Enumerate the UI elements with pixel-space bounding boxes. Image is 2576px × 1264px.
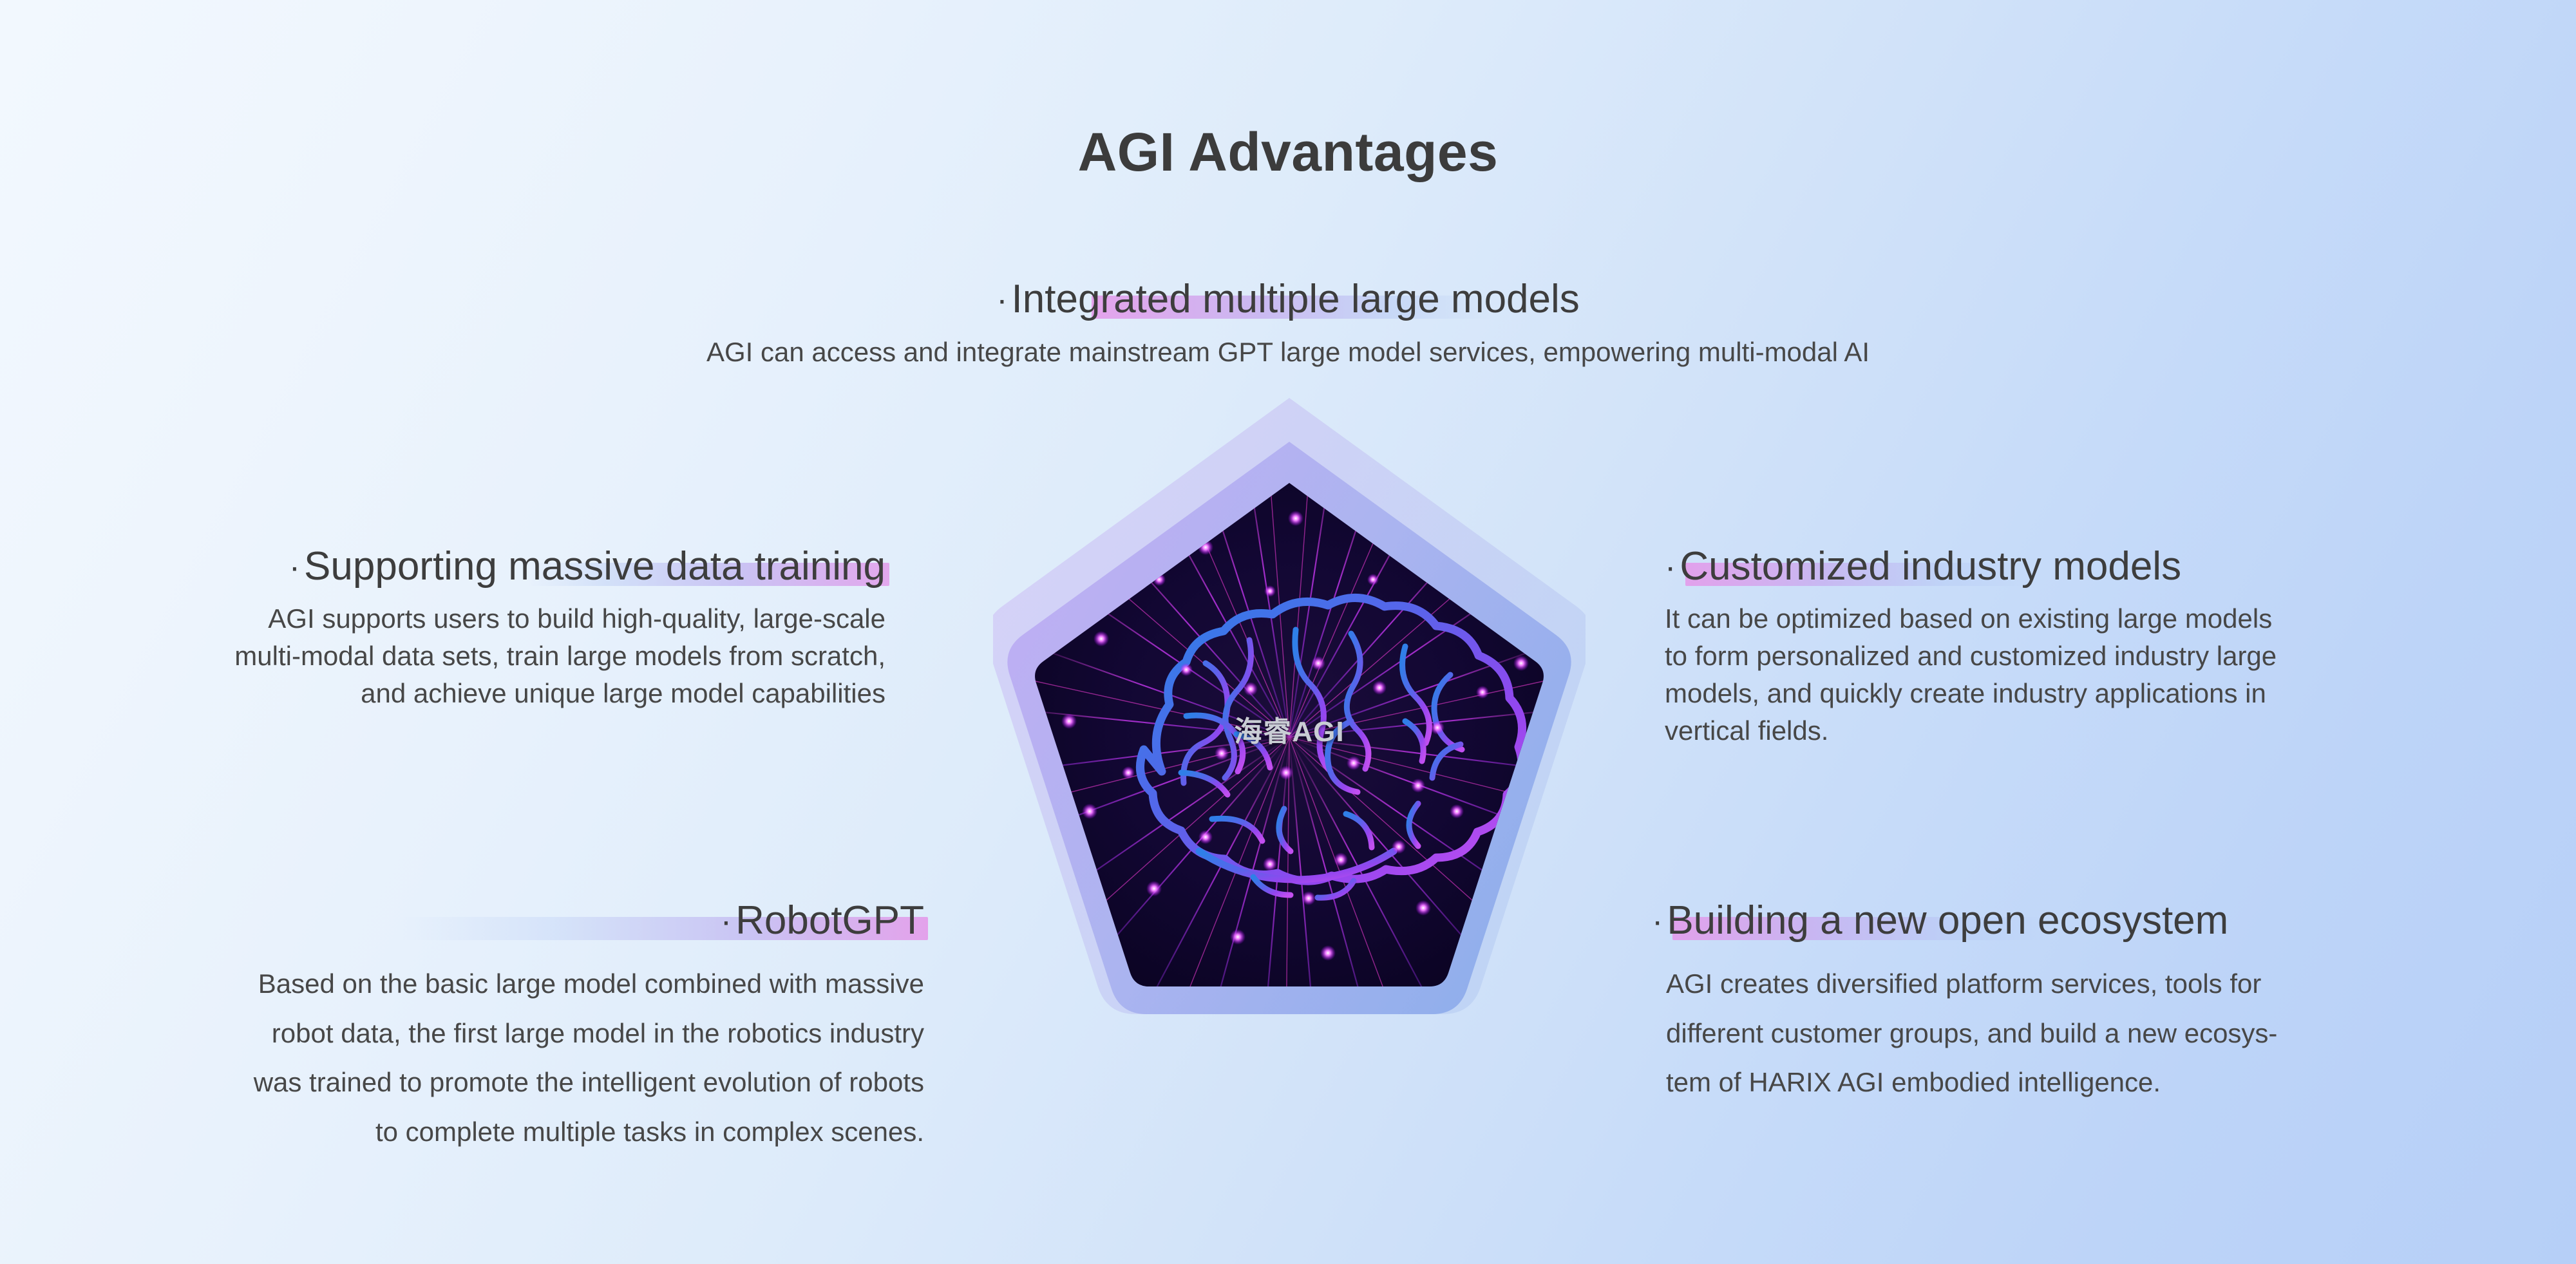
body-line: to complete multiple tasks in complex sc…: [0, 1108, 924, 1156]
advantage-body: AGI supports users to build high-quality…: [0, 600, 885, 712]
advantage-block-massive-data-training: ·Supporting massive data training AGI su…: [0, 544, 921, 712]
advantage-block-open-ecosystem: ·Building a new open ecosystem AGI creat…: [1652, 898, 2566, 1108]
bullet-marker: ·: [721, 903, 732, 940]
advantage-body: AGI creates diversified platform service…: [1652, 959, 2566, 1107]
body-line: It can be optimized based on existing la…: [1665, 600, 2553, 637]
body-line: AGI creates diversified platform service…: [1666, 959, 2566, 1008]
slide-canvas: AGI Advantages: [0, 0, 2576, 1264]
body-line: to form personalized and customized indu…: [1665, 637, 2553, 675]
bullet-marker: ·: [1665, 549, 1676, 586]
body-line: was trained to promote the intelligent e…: [0, 1058, 924, 1107]
agi-pentagon-graphic: 海睿AGI: [993, 386, 1586, 1095]
heading-text: Integrated multiple large models: [1012, 277, 1580, 321]
advantage-heading: ·Supporting massive data training: [289, 544, 885, 589]
bullet-marker: ·: [1652, 903, 1663, 940]
body-line: AGI supports users to build high-quality…: [0, 600, 885, 637]
advantage-heading: ·Customized industry models: [1665, 544, 2181, 589]
advantage-body: It can be optimized based on existing la…: [1665, 600, 2553, 750]
body-line: different customer groups, and build a n…: [1666, 1009, 2566, 1058]
heading-text: Supporting massive data training: [304, 544, 885, 589]
heading-text: Building a new open ecosystem: [1667, 898, 2228, 943]
advantage-heading: ·Integrated multiple large models: [996, 277, 1580, 321]
advantage-heading: ·RobotGPT: [721, 898, 924, 943]
body-line: and achieve unique large model capabilit…: [0, 675, 885, 712]
heading-text: Customized industry models: [1680, 544, 2181, 589]
body-line: robot data, the first large model in the…: [0, 1009, 924, 1058]
advantage-body: AGI can access and integrate mainstream …: [0, 334, 2576, 371]
body-line: Based on the basic large model combined …: [0, 959, 924, 1008]
page-title: AGI Advantages: [0, 121, 2576, 184]
body-line: vertical fields.: [1665, 712, 2553, 750]
advantage-block-robotgpt: ·RobotGPT Based on the basic large model…: [0, 898, 960, 1156]
body-line: tem of HARIX AGI embodied intelligence.: [1666, 1058, 2566, 1107]
advantage-block-customized-industry-models: ·Customized industry models It can be op…: [1665, 544, 2553, 750]
body-line: models, and quickly create industry appl…: [1665, 675, 2553, 712]
bullet-marker: ·: [289, 549, 300, 586]
advantage-heading: ·Building a new open ecosystem: [1652, 898, 2228, 943]
body-line: multi-modal data sets, train large model…: [0, 637, 885, 675]
body-line: AGI can access and integrate mainstream …: [0, 334, 2576, 371]
advantage-body: Based on the basic large model combined …: [0, 959, 924, 1156]
bullet-marker: ·: [996, 281, 1007, 319]
advantage-block-integrated-models: ·Integrated multiple large models AGI ca…: [0, 277, 2576, 371]
heading-text: RobotGPT: [735, 898, 924, 943]
